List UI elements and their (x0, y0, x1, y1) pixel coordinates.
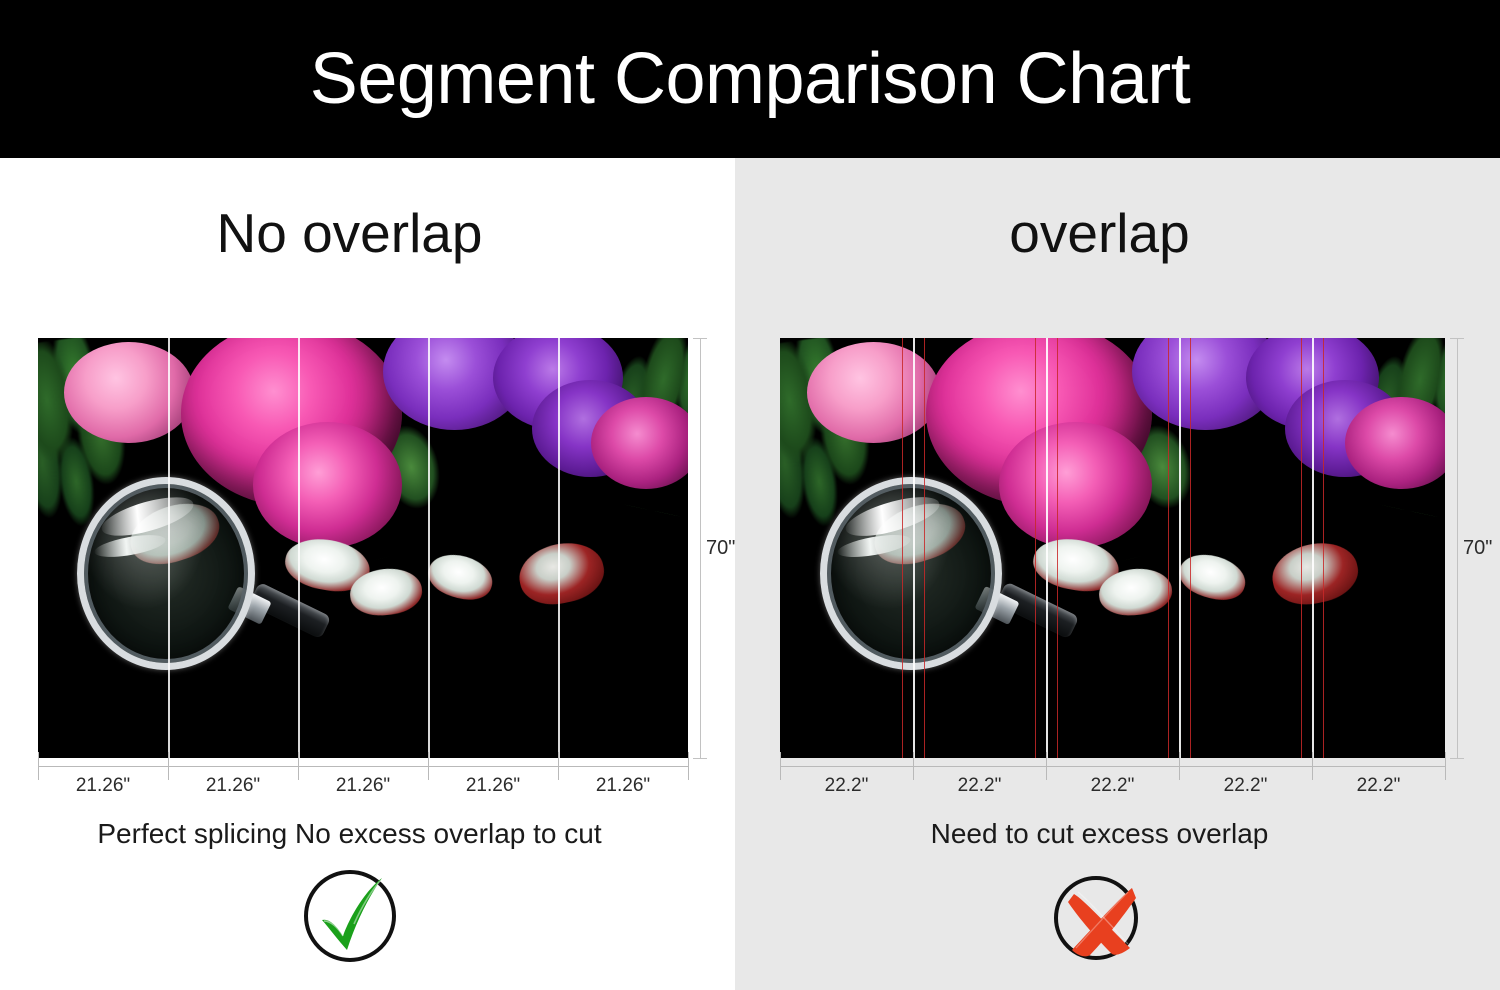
header-banner: Segment Comparison Chart (0, 0, 1500, 158)
infographic-root: Segment Comparison Chart No overlap (0, 0, 1500, 990)
alstroemeria-5-icon (1267, 535, 1364, 610)
height-dimension-line-right (1457, 338, 1458, 758)
width-dimension-line-right (780, 766, 1445, 767)
height-dimension-cap-bottom (1450, 758, 1464, 759)
segment-width-label: 22.2" (1046, 776, 1179, 795)
floral-artwork (780, 338, 1445, 758)
panel-right-heading: overlap (717, 206, 1482, 261)
page-title: Segment Comparison Chart (310, 43, 1190, 115)
overlap-marker-line (1168, 338, 1169, 758)
magnifier-glint-2 (836, 531, 912, 561)
segment-width-label: 21.26" (298, 776, 428, 795)
seam-divider (558, 338, 560, 758)
height-dimension-line-left (700, 338, 701, 758)
panel-right-caption: Need to cut excess overlap (717, 820, 1482, 848)
seam-divider (168, 338, 170, 758)
height-dimension-cap-bottom (693, 758, 707, 759)
mural-left-image (38, 338, 688, 758)
alstroemeria-4-icon (1174, 548, 1250, 607)
mural-right-image (780, 338, 1445, 758)
overlap-marker-line (1301, 338, 1302, 758)
magnifier-lens (820, 477, 1002, 670)
overlap-marker-line (924, 338, 925, 758)
alstroemeria-5-icon (514, 536, 609, 611)
height-dimension-cap-top (1450, 338, 1464, 339)
segment-width-label: 21.26" (428, 776, 558, 795)
peony-pink-small-icon (64, 342, 194, 443)
comparison-panels: No overlap (0, 158, 1500, 990)
alstroemeria-4-icon (423, 548, 497, 606)
width-dimension-line-left (38, 766, 688, 767)
panel-overlap: overlap (735, 158, 1500, 990)
height-dimension-cap-top (693, 338, 707, 339)
floral-artwork (38, 338, 688, 758)
height-label-left: 70" (706, 538, 735, 558)
green-check-icon (298, 864, 402, 968)
overlap-marker-line (1323, 338, 1324, 758)
magnifying-glass-icon (820, 477, 1059, 670)
seam-divider (913, 338, 915, 758)
magnifier-lens (77, 477, 255, 670)
seam-divider (1179, 338, 1181, 758)
mural-right (780, 338, 1445, 758)
segment-width-label: 22.2" (1179, 776, 1312, 795)
overlap-marker-line (1057, 338, 1058, 758)
panel-left-heading: No overlap (0, 206, 717, 261)
width-dimension-tick (1445, 752, 1446, 780)
overlap-marker-line (902, 338, 903, 758)
segment-width-label: 22.2" (780, 776, 913, 795)
seam-divider (298, 338, 300, 758)
seam-divider (1046, 338, 1048, 758)
segment-width-label: 22.2" (1312, 776, 1445, 795)
panel-right-status-mark (717, 864, 1482, 968)
magnifier-glint-2 (93, 531, 167, 561)
overlap-marker-line (1190, 338, 1191, 758)
red-cross-icon (1048, 864, 1152, 968)
width-dimension-tick (688, 752, 689, 780)
seam-divider (428, 338, 430, 758)
mural-left (38, 338, 688, 758)
overlap-marker-line (1035, 338, 1036, 758)
segment-width-label: 22.2" (913, 776, 1046, 795)
seam-divider (1312, 338, 1314, 758)
panel-left-status-mark (0, 864, 717, 968)
panel-no-overlap: No overlap (0, 158, 735, 990)
segment-width-label: 21.26" (558, 776, 688, 795)
segment-width-label: 21.26" (38, 776, 168, 795)
segment-width-label: 21.26" (168, 776, 298, 795)
magnifying-glass-icon (77, 477, 311, 670)
peony-pink-small-icon (807, 342, 940, 443)
height-label-right: 70" (1463, 538, 1492, 558)
panel-left-caption: Perfect splicing No excess overlap to cu… (0, 820, 717, 848)
